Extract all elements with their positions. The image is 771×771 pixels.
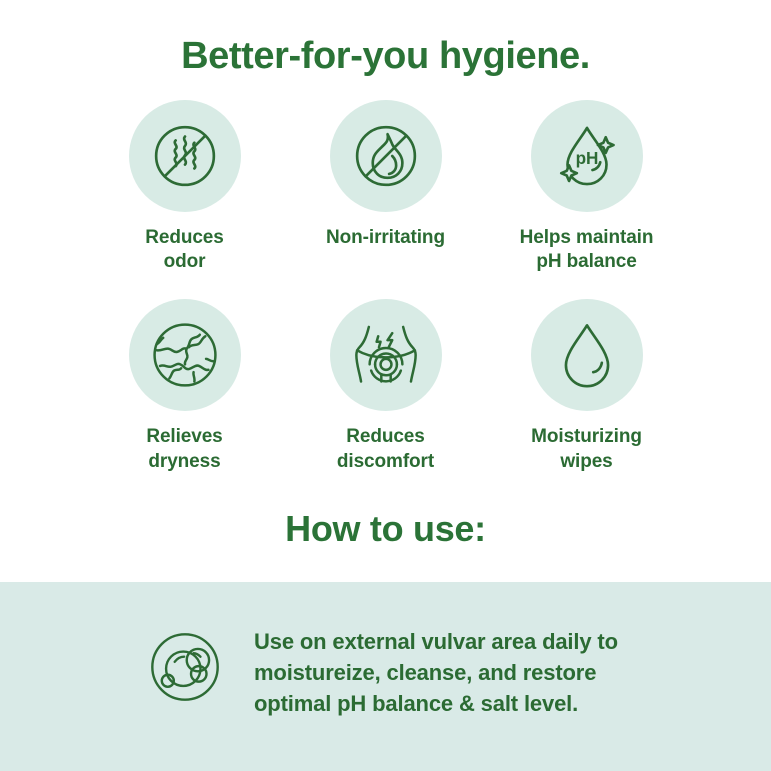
no-odor-icon — [146, 117, 224, 195]
benefit-badge — [330, 100, 442, 212]
benefit-badge — [129, 299, 241, 411]
benefit-item-moisturizing-wipes: Moisturizing wipes — [486, 299, 687, 474]
benefit-item-relieves-dryness: Relieves dryness — [84, 299, 285, 474]
no-flame-icon — [347, 117, 425, 195]
benefit-label: Reduces odor — [145, 226, 224, 275]
bubbles-circle-icon — [142, 624, 228, 710]
ph-icon-text: pH — [575, 148, 598, 168]
benefit-item-ph-balance: pH Helps maintain pH balance — [486, 100, 687, 275]
benefit-item-reduces-odor: Reduces odor — [84, 100, 285, 275]
droplet-icon — [548, 316, 626, 394]
usage-instructions-panel: Use on external vulvar area daily to moi… — [0, 582, 771, 771]
benefit-badge — [531, 299, 643, 411]
ph-droplet-icon: pH — [548, 117, 626, 195]
how-to-use-heading: How to use: — [0, 475, 771, 549]
benefit-item-reduces-discomfort: Reduces discomfort — [285, 299, 486, 474]
benefit-item-non-irritating: Non-irritating — [285, 100, 486, 275]
benefit-label: Relieves dryness — [146, 425, 222, 474]
benefit-badge: pH — [531, 100, 643, 212]
benefits-grid: Reduces odor Non-irritating — [0, 78, 771, 475]
benefit-label: Moisturizing wipes — [531, 425, 642, 474]
benefit-badge — [330, 299, 442, 411]
infographic-page: Better-for-you hygiene. Reduces odor — [0, 0, 771, 771]
benefit-label: Non-irritating — [326, 226, 445, 251]
usage-instructions-text: Use on external vulvar area daily to moi… — [254, 624, 618, 720]
benefit-label: Helps maintain pH balance — [520, 226, 654, 275]
dry-cracked-circle-icon — [146, 316, 224, 394]
page-title: Better-for-you hygiene. — [0, 0, 771, 78]
hips-pain-icon — [347, 316, 425, 394]
benefit-badge — [129, 100, 241, 212]
benefit-label: Reduces discomfort — [337, 425, 434, 474]
